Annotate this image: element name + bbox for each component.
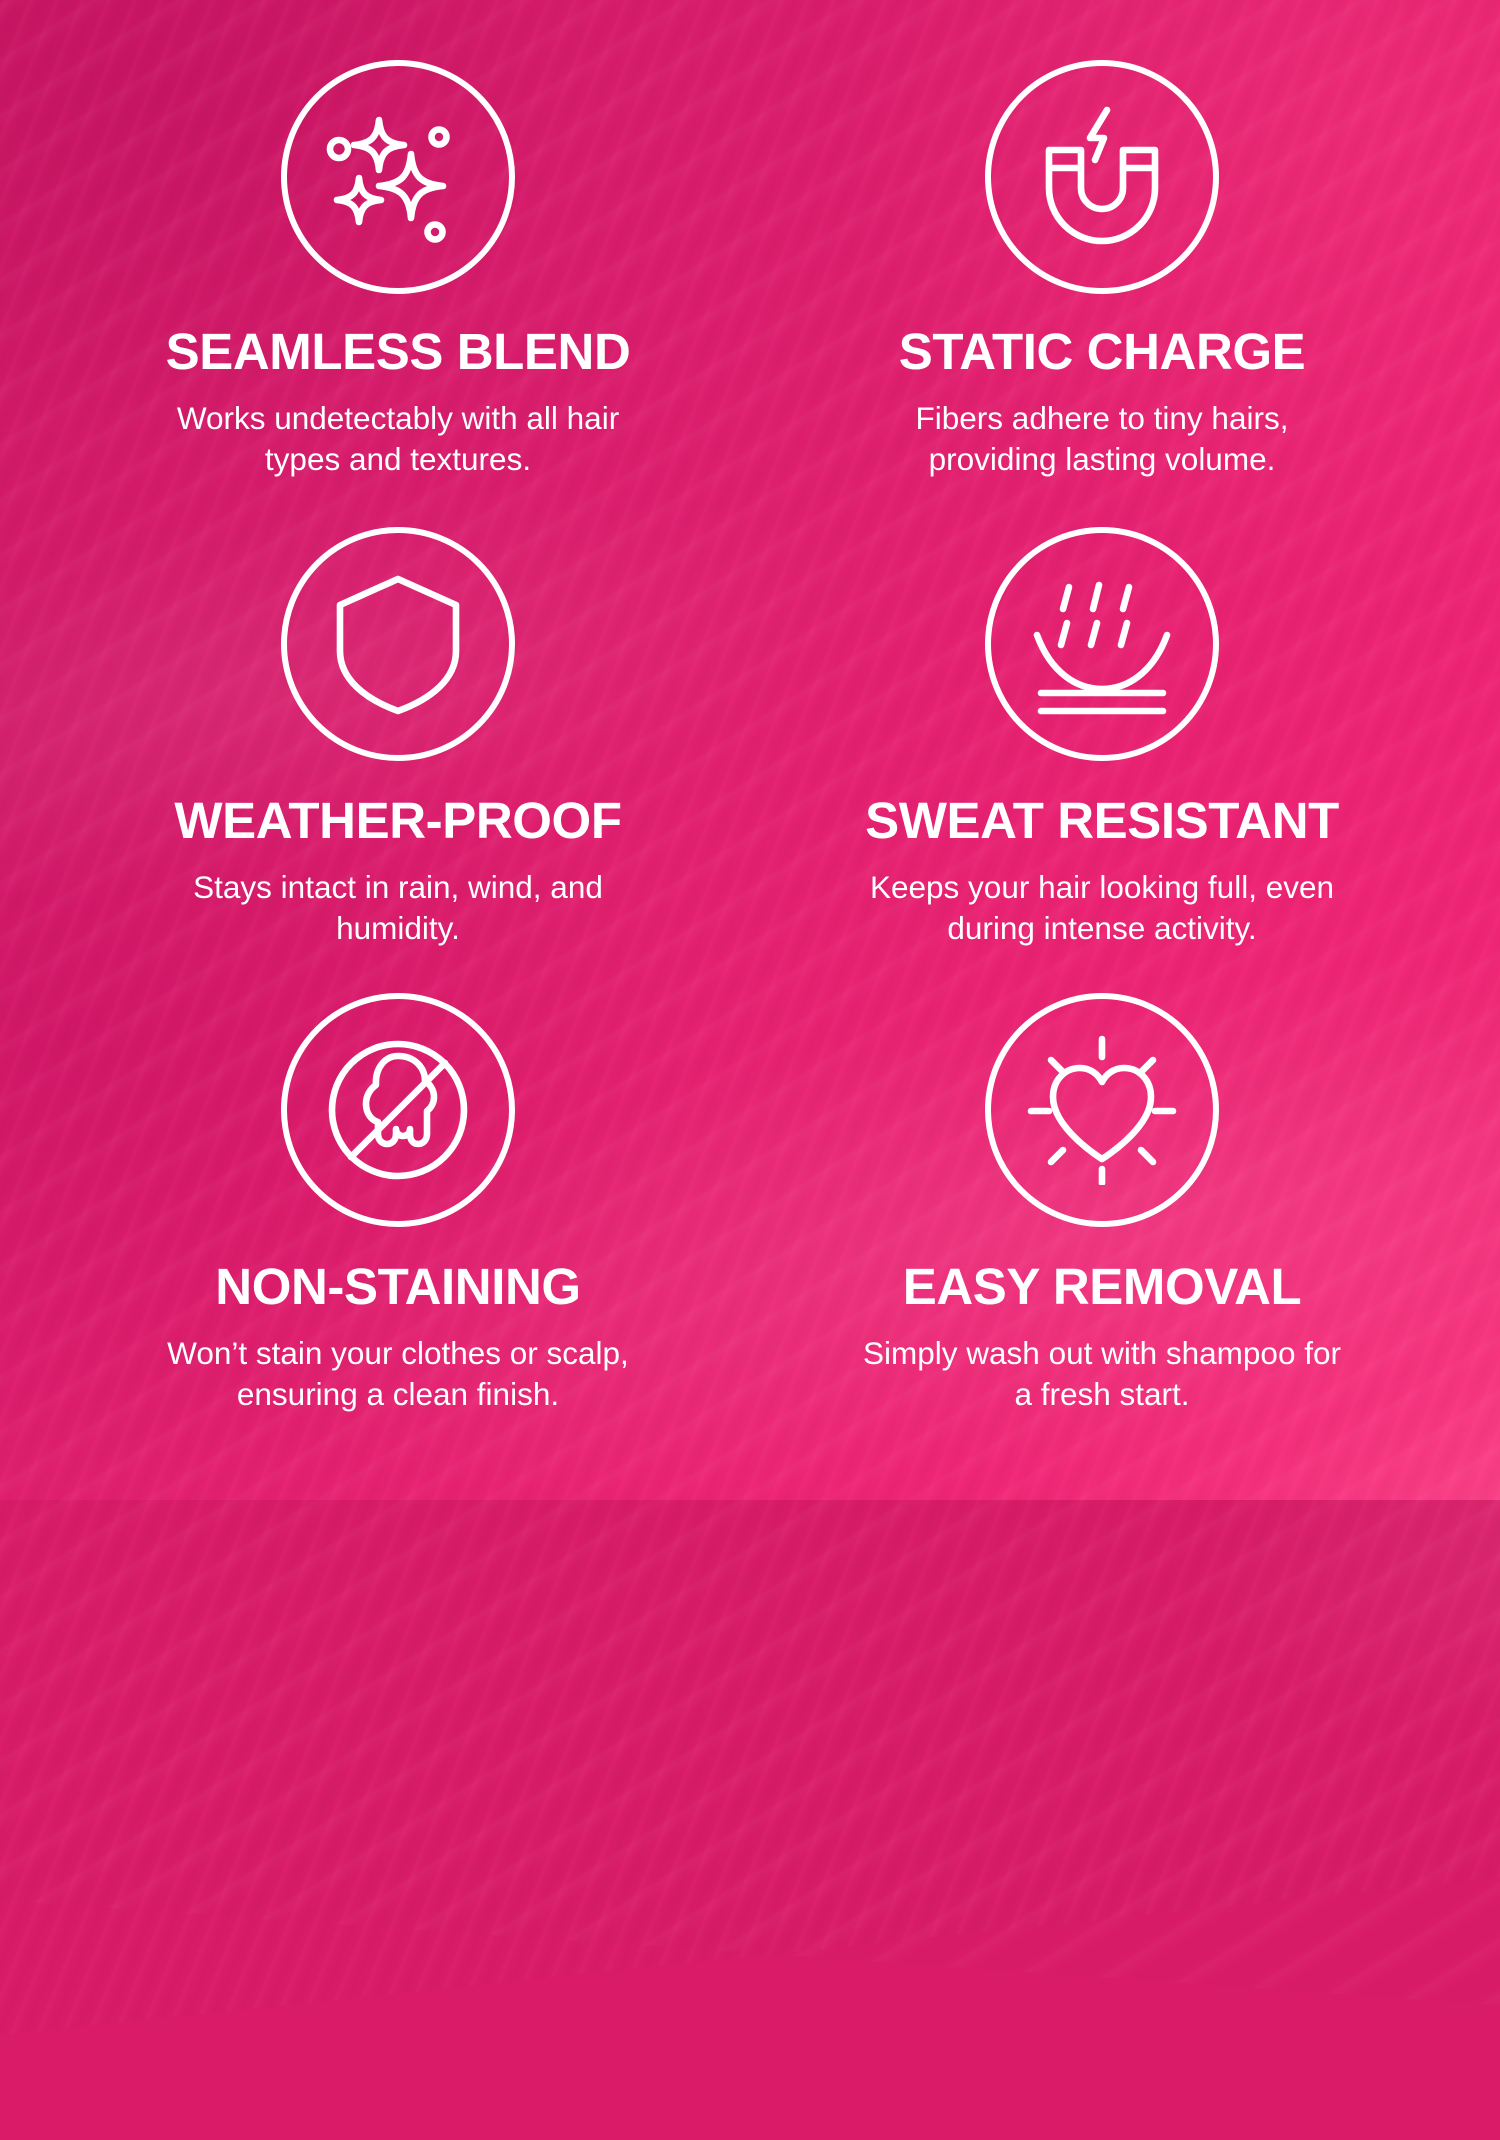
feature-description: Stays intact in rain, wind, and humidity…: [158, 867, 638, 949]
feature-description: Keeps your hair looking full, even durin…: [862, 867, 1342, 949]
feature-title: SWEAT RESISTANT: [865, 795, 1339, 847]
feature-title: SEAMLESS BLEND: [166, 326, 631, 378]
feature-description: Won’t stain your clothes or scalp, ensur…: [158, 1333, 638, 1415]
feature-card-static-charge: STATIC CHARGE Fibers adhere to tiny hair…: [750, 60, 1454, 527]
feature-title: EASY REMOVAL: [903, 1261, 1302, 1313]
feature-card-seamless-blend: SEAMLESS BLEND Works undetectably with a…: [46, 60, 750, 527]
feature-description: Fibers adhere to tiny hairs, providing l…: [862, 398, 1342, 480]
feature-title: NON-STAINING: [215, 1261, 580, 1313]
water-repel-icon: [985, 527, 1219, 761]
feature-description: Simply wash out with shampoo for a fresh…: [862, 1333, 1342, 1415]
feature-title: WEATHER-PROOF: [174, 795, 621, 847]
sparkles-icon: [281, 60, 515, 294]
feature-title: STATIC CHARGE: [899, 326, 1306, 378]
magnet-icon: [985, 60, 1219, 294]
feature-description: Works undetectably with all hair types a…: [158, 398, 638, 480]
feature-card-weather-proof: WEATHER-PROOF Stays intact in rain, wind…: [46, 527, 750, 994]
shield-icon: [281, 527, 515, 761]
feature-card-sweat-resistant: SWEAT RESISTANT Keeps your hair looking …: [750, 527, 1454, 994]
no-stain-icon: [281, 993, 515, 1227]
feature-card-non-staining: NON-STAINING Won’t stain your clothes or…: [46, 993, 750, 1460]
heart-rays-icon: [985, 993, 1219, 1227]
feature-grid: SEAMLESS BLEND Works undetectably with a…: [0, 0, 1500, 1500]
feature-card-easy-removal: EASY REMOVAL Simply wash out with shampo…: [750, 993, 1454, 1460]
